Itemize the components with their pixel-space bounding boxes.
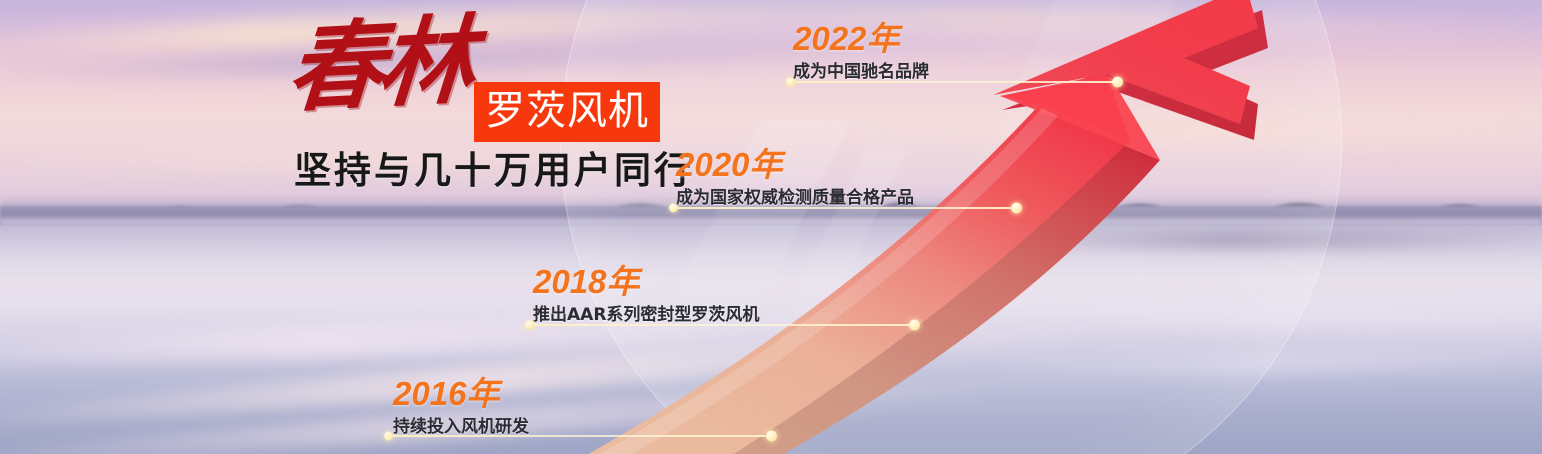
milestone-connector-2018 — [529, 324, 915, 326]
product-tag-badge: 罗茨风机 — [474, 82, 660, 142]
milestone-2022: 2022年 成为中国驰名品牌 — [793, 22, 929, 81]
milestone-desc: 成为中国驰名品牌 — [793, 64, 929, 81]
milestone-year: 2020年 — [676, 148, 914, 181]
milestone-desc: 成为国家权威检测质量合格产品 — [676, 190, 914, 207]
lake-water — [0, 226, 1542, 454]
milestone-desc: 持续投入风机研发 — [393, 419, 529, 436]
milestone-connector-2022 — [790, 81, 1118, 83]
milestone-2016: 2016年 持续投入风机研发 — [393, 377, 529, 436]
milestone-year: 2022年 — [793, 22, 929, 55]
milestone-2018: 2018年 推出AAR系列密封型罗茨风机 — [533, 265, 759, 324]
connector-node-left — [384, 432, 393, 441]
milestone-2020: 2020年 成为国家权威检测质量合格产品 — [676, 148, 914, 207]
connector-node-right — [909, 320, 920, 331]
milestone-connector-2020 — [673, 207, 1017, 209]
connector-node-right — [1011, 203, 1022, 214]
connector-node-right — [1112, 77, 1123, 88]
connector-node-left — [786, 78, 795, 87]
connector-node-left — [525, 321, 534, 330]
milestone-year: 2018年 — [533, 265, 759, 298]
promo-banner: 春林 罗茨风机 坚持与几十万用户同行 2022年 成为中国驰名品牌 2020年 … — [0, 0, 1542, 454]
connector-node-right — [766, 431, 777, 442]
brand-slogan: 坚持与几十万用户同行 — [294, 153, 694, 190]
connector-node-left — [669, 204, 678, 213]
brand-calligraphy: 春林 — [284, 13, 472, 118]
brand-block: 春林 罗茨风机 坚持与几十万用户同行 — [288, 16, 658, 196]
milestone-desc: 推出AAR系列密封型罗茨风机 — [533, 307, 759, 324]
milestone-year: 2016年 — [393, 377, 529, 410]
milestone-connector-2016 — [388, 435, 772, 437]
